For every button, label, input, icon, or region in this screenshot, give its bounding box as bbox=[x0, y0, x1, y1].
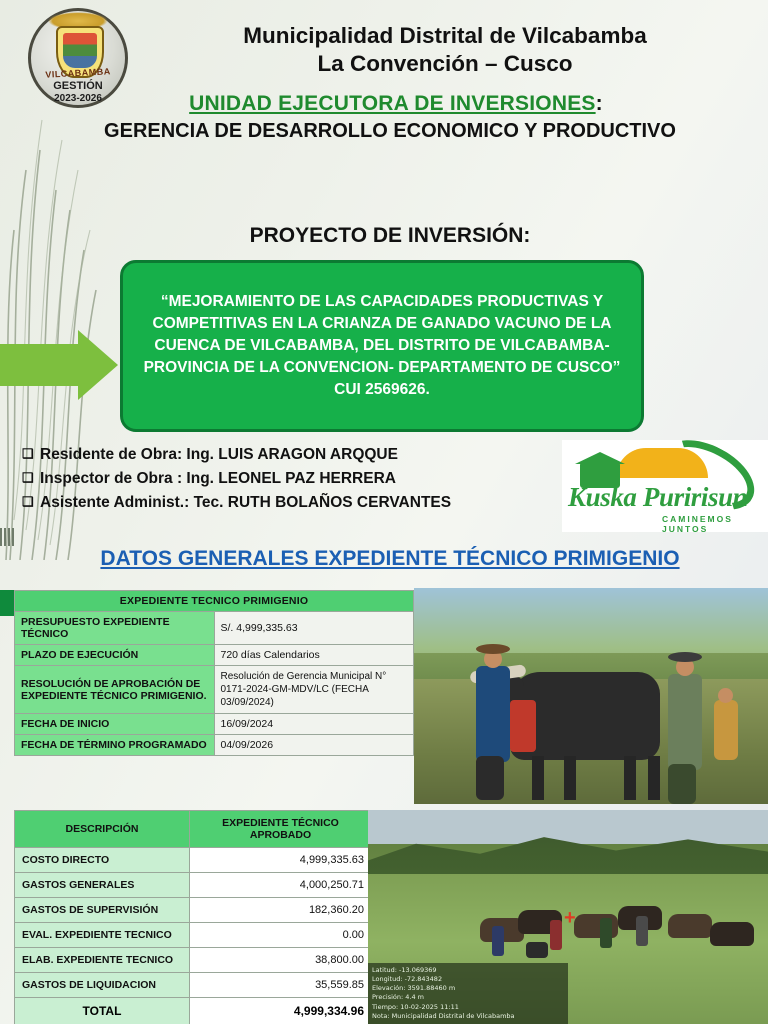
checkbox-bullet-icon: ❑ bbox=[22, 492, 40, 512]
kuska-logo-text: Kuska Puririsun bbox=[568, 482, 768, 513]
row-value: 04/09/2026 bbox=[214, 735, 414, 756]
row-label: GASTOS GENERALES bbox=[15, 873, 190, 898]
gps-time: Tiempo: 10-02-2025 11:11 bbox=[372, 1003, 564, 1012]
row-label: ELAB. EXPEDIENTE TECNICO bbox=[15, 948, 190, 973]
checkbox-bullet-icon: ❑ bbox=[22, 468, 40, 488]
row-value: 4,000,250.71 bbox=[190, 873, 372, 898]
green-arrow-decoration bbox=[0, 330, 120, 400]
row-label: PRESUPUESTO EXPEDIENTE TÉCNICO bbox=[15, 612, 215, 645]
scrollbar-marks bbox=[0, 528, 16, 550]
page-title: Municipalidad Distrital de Vilcabamba La… bbox=[140, 22, 750, 78]
expediente-primigenio-table: EXPEDIENTE TECNICO PRIMIGENIO PRESUPUEST… bbox=[14, 590, 414, 756]
project-name-text: “MEJORAMIENTO DE LAS CAPACIDADES PRODUCT… bbox=[137, 291, 627, 401]
table-row-total: TOTAL 4,999,334.96 bbox=[15, 998, 372, 1024]
row-value: 182,360.20 bbox=[190, 898, 372, 923]
table-row: PRESUPUESTO EXPEDIENTE TÉCNICO S/. 4,999… bbox=[15, 612, 414, 645]
slide: VILCABAMBA GESTIÓN 2023-2026 Municipalid… bbox=[0, 0, 768, 1024]
gps-elevation: Elevación: 3591.88460 m bbox=[372, 984, 564, 993]
column-header-descripcion: DESCRIPCIÓN bbox=[15, 811, 190, 848]
list-item: ❑ Inspector de Obra : Ing. LEONEL PAZ HE… bbox=[22, 468, 562, 490]
table-row: PLAZO DE EJECUCIÓN 720 días Calendarios bbox=[15, 645, 414, 666]
backpack bbox=[526, 942, 548, 958]
person-figure bbox=[636, 916, 648, 946]
person-figure bbox=[714, 700, 738, 760]
row-label: FECHA DE INICIO bbox=[15, 714, 215, 735]
municipality-name-line1: Municipalidad Distrital de Vilcabamba bbox=[140, 22, 750, 50]
staff-list: ❑ Residente de Obra: Ing. LUIS ARAGON AR… bbox=[22, 444, 562, 516]
row-label: GASTOS DE LIQUIDACION bbox=[15, 973, 190, 998]
list-item: ❑ Asistente Administ.: Tec. RUTH BOLAÑOS… bbox=[22, 492, 562, 514]
unidad-ejecutora-label: UNIDAD EJECUTORA DE INVERSIONES bbox=[189, 92, 595, 115]
row-value: S/. 4,999,335.63 bbox=[214, 612, 414, 645]
table-row: FECHA DE INICIO 16/09/2024 bbox=[15, 714, 414, 735]
table-row: DESCRIPCIÓN EXPEDIENTE TÉCNICO APROBADO bbox=[15, 811, 372, 848]
row-label: RESOLUCIÓN DE APROBACIÓN DE EXPEDIENTE T… bbox=[15, 666, 215, 714]
table-row: COSTO DIRECTO 4,999,335.63 bbox=[15, 848, 372, 873]
row-value: 38,800.00 bbox=[190, 948, 372, 973]
unidad-colon: : bbox=[596, 92, 603, 115]
gps-overlay: Latitud: -13.069369 Longitud: -72.843482… bbox=[368, 963, 568, 1024]
table-row: EXPEDIENTE TECNICO PRIMIGENIO bbox=[15, 591, 414, 612]
red-cloth bbox=[510, 700, 536, 752]
photo-pasture-cattle: + Latitud: -13.069369 Longitud: -72.8434… bbox=[368, 810, 768, 1024]
gps-note: Nota: Municipalidad Distrital de Vilcaba… bbox=[372, 1012, 564, 1021]
photo-bull-ceremony bbox=[414, 588, 768, 804]
list-item: ❑ Residente de Obra: Ing. LUIS ARAGON AR… bbox=[22, 444, 562, 466]
row-value: 16/09/2024 bbox=[214, 714, 414, 735]
gps-longitude: Longitud: -72.843482 bbox=[372, 975, 564, 984]
project-name-box: “MEJORAMIENTO DE LAS CAPACIDADES PRODUCT… bbox=[120, 260, 644, 432]
gps-precision: Precisión: 4.4 m bbox=[372, 993, 564, 1002]
person-figure bbox=[476, 666, 510, 762]
row-label: FECHA DE TÉRMINO PROGRAMADO bbox=[15, 735, 215, 756]
table-row: EVAL. EXPEDIENTE TECNICO 0.00 bbox=[15, 923, 372, 948]
map-marker-icon: + bbox=[564, 908, 576, 928]
total-value: 4,999,334.96 bbox=[190, 998, 372, 1024]
table-row: GASTOS GENERALES 4,000,250.71 bbox=[15, 873, 372, 898]
row-value: Resolución de Gerencia Municipal N° 0171… bbox=[214, 666, 414, 714]
cow-figure bbox=[668, 914, 712, 938]
table-row: RESOLUCIÓN DE APROBACIÓN DE EXPEDIENTE T… bbox=[15, 666, 414, 714]
gps-latitude: Latitud: -13.069369 bbox=[372, 966, 564, 975]
person-figure bbox=[600, 918, 612, 948]
row-value: 35,559.85 bbox=[190, 973, 372, 998]
proyecto-label: PROYECTO DE INVERSIÓN: bbox=[60, 224, 720, 248]
person-figure bbox=[492, 926, 504, 956]
gerencia-heading: GERENCIA DE DESARROLLO ECONOMICO Y PRODU… bbox=[60, 118, 720, 144]
row-value: 720 días Calendarios bbox=[214, 645, 414, 666]
table-row: GASTOS DE LIQUIDACION 35,559.85 bbox=[15, 973, 372, 998]
table-header-cell: EXPEDIENTE TECNICO PRIMIGENIO bbox=[15, 591, 414, 612]
crest-gestion-text: GESTIÓN bbox=[28, 80, 128, 92]
checkbox-bullet-icon: ❑ bbox=[22, 444, 40, 464]
person-figure bbox=[550, 920, 562, 950]
kuska-puririsun-logo: Kuska Puririsun CAMINEMOS JUNTOS bbox=[562, 440, 768, 532]
table-row: ELAB. EXPEDIENTE TECNICO 38,800.00 bbox=[15, 948, 372, 973]
column-header-aprobado: EXPEDIENTE TÉCNICO APROBADO bbox=[190, 811, 372, 848]
staff-asistente: Asistente Administ.: Tec. RUTH BOLAÑOS C… bbox=[40, 492, 451, 514]
row-label: PLAZO DE EJECUCIÓN bbox=[15, 645, 215, 666]
unidad-ejecutora-heading: UNIDAD EJECUTORA DE INVERSIONES: bbox=[56, 92, 736, 116]
person-figure bbox=[668, 674, 702, 770]
municipality-name-line2: La Convención – Cusco bbox=[140, 50, 750, 78]
table-row: FECHA DE TÉRMINO PROGRAMADO 04/09/2026 bbox=[15, 735, 414, 756]
row-label: EVAL. EXPEDIENTE TECNICO bbox=[15, 923, 190, 948]
cow-figure bbox=[710, 922, 754, 946]
staff-inspector: Inspector de Obra : Ing. LEONEL PAZ HERR… bbox=[40, 468, 396, 490]
section-title: DATOS GENERALES EXPEDIENTE TÉCNICO PRIMI… bbox=[40, 546, 740, 572]
costos-table: DESCRIPCIÓN EXPEDIENTE TÉCNICO APROBADO … bbox=[14, 810, 372, 1024]
table-row: GASTOS DE SUPERVISIÓN 182,360.20 bbox=[15, 898, 372, 923]
row-value: 0.00 bbox=[190, 923, 372, 948]
row-label: COSTO DIRECTO bbox=[15, 848, 190, 873]
row-label: GASTOS DE SUPERVISIÓN bbox=[15, 898, 190, 923]
total-label: TOTAL bbox=[15, 998, 190, 1024]
row-value: 4,999,335.63 bbox=[190, 848, 372, 873]
staff-residente: Residente de Obra: Ing. LUIS ARAGON ARQQ… bbox=[40, 444, 398, 466]
kuska-logo-tagline: CAMINEMOS JUNTOS bbox=[662, 514, 766, 532]
